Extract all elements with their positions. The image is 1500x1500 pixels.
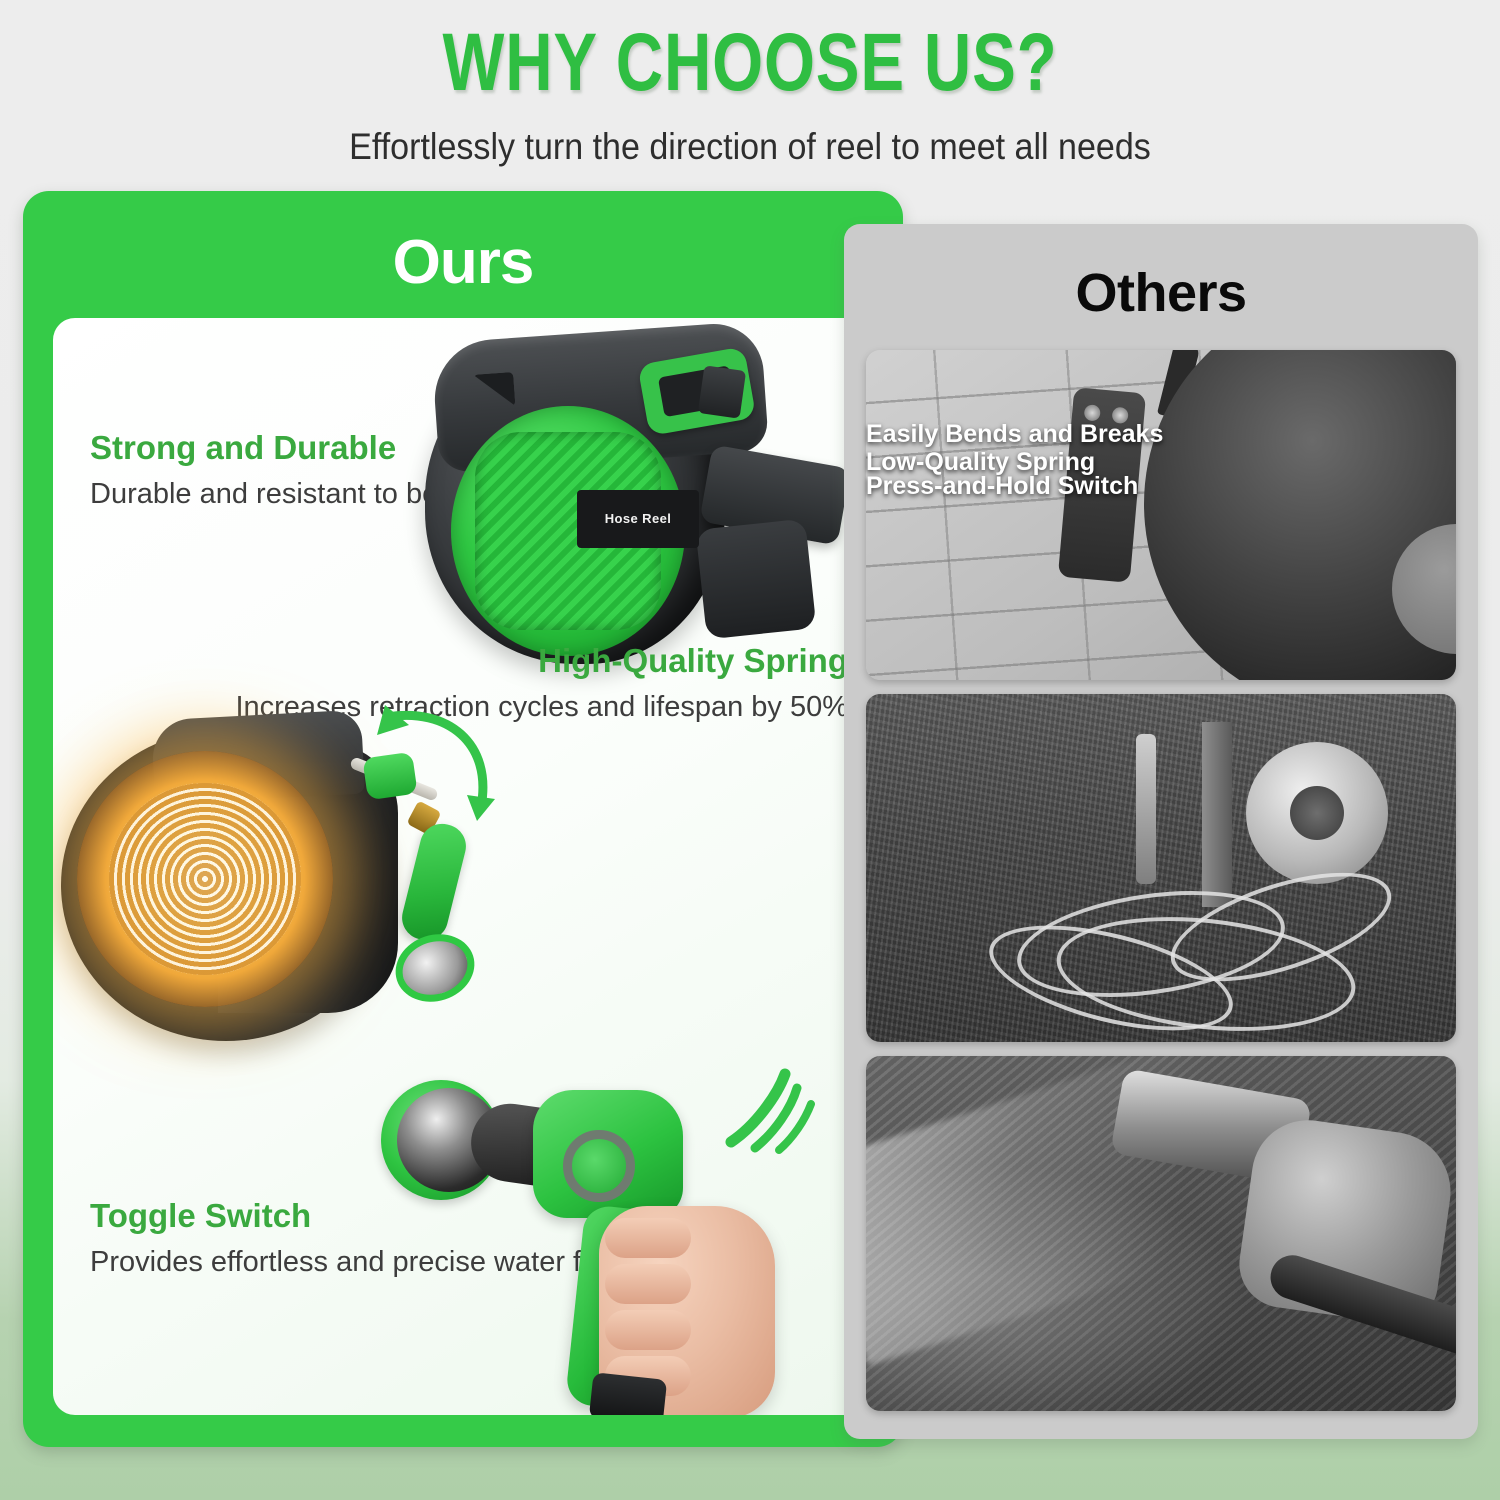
ours-panel-label: Ours xyxy=(23,227,903,298)
curved-arrow-icon xyxy=(369,703,509,833)
feature-title: High-Quality Spring xyxy=(235,643,848,679)
others-panel-label: Others xyxy=(844,262,1478,324)
photo-caption: Easily Bends and Breaks xyxy=(866,420,1163,449)
coiled-spring-spiral xyxy=(109,783,301,975)
page-title: WHY CHOOSE US? xyxy=(150,22,1350,104)
spray-gun-body xyxy=(397,819,470,945)
motion-lines-icon xyxy=(725,1068,821,1154)
others-photo-low-quality-spring xyxy=(866,694,1456,1042)
others-photo-bends-and-breaks xyxy=(866,350,1456,680)
screw-icon xyxy=(1084,404,1101,421)
reel-mount-bracket xyxy=(696,519,817,640)
page-subtitle: Effortlessly turn the direction of reel … xyxy=(60,126,1440,168)
ours-panel: Ours Strong and Durable Durable and resi… xyxy=(23,191,903,1447)
mounting-post xyxy=(1202,722,1232,907)
garden-tool xyxy=(1136,734,1156,884)
white-hose-reel xyxy=(1246,742,1388,884)
photo-caption: Press-and-Hold Switch xyxy=(866,472,1138,501)
spray-head xyxy=(387,924,483,1011)
black-hose-reel xyxy=(1144,350,1456,680)
comparison-section: Ours Strong and Durable Durable and resi… xyxy=(0,191,1500,1461)
nozzle-in-hand-product-image xyxy=(353,1058,873,1415)
finger xyxy=(605,1264,691,1304)
hose-reel-product-image: Hose Reel xyxy=(413,328,863,688)
finger xyxy=(605,1310,691,1350)
nozzle-dial xyxy=(563,1130,635,1202)
reel-vent xyxy=(473,372,515,409)
page-header: WHY CHOOSE US? Effortlessly turn the dir… xyxy=(0,0,1500,168)
others-panel: Others Easily Bends and Breaks Low-Quali… xyxy=(844,224,1478,1439)
spring-reel-product-image xyxy=(53,713,513,1063)
product-badge: Hose Reel xyxy=(577,490,699,548)
reel-knob xyxy=(698,365,746,418)
nozzle-grip-end xyxy=(589,1372,667,1415)
others-photo-press-and-hold-switch xyxy=(866,1056,1456,1411)
finger xyxy=(605,1218,691,1258)
ours-content-card: Strong and Durable Durable and resistant… xyxy=(53,318,873,1415)
